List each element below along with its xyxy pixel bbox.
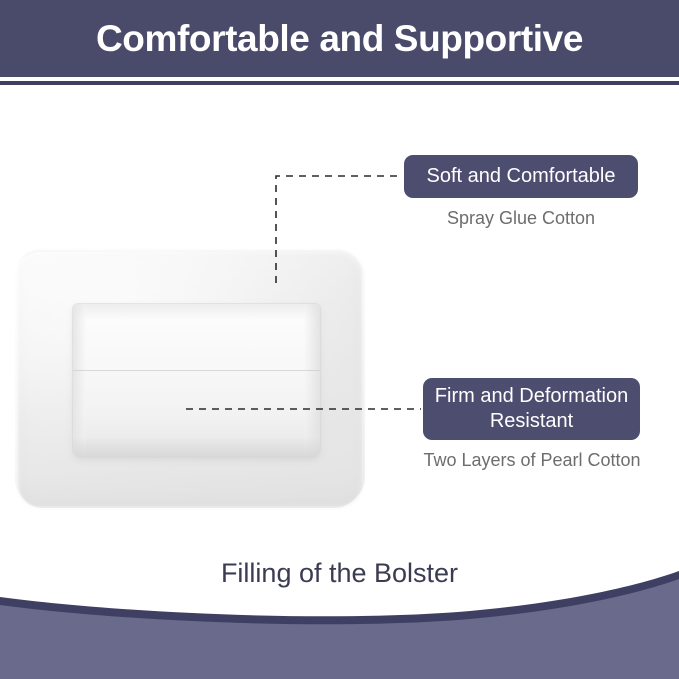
spray-glue-cotton-pad xyxy=(18,250,362,506)
insert-right-fold xyxy=(304,304,320,457)
callout-badge-label: Soft and Comfortable xyxy=(427,164,616,189)
callout-badge-soft-comfortable[interactable]: Soft and Comfortable xyxy=(404,155,638,198)
product-illustration xyxy=(10,243,370,513)
callout-caption-pearl-cotton: Two Layers of Pearl Cotton xyxy=(415,450,649,471)
callout-badge-label-line2: Resistant xyxy=(490,410,573,432)
infographic-page: Comfortable and Supportive Soft and Comf… xyxy=(0,0,679,679)
insert-left-fold xyxy=(73,304,86,457)
callout-badge-label-line1: Firm and Deformation xyxy=(435,385,628,407)
callout-badge-firm-resistant[interactable]: Firm and Deformation Resistant xyxy=(423,378,640,440)
footer-wave xyxy=(0,569,679,679)
callout-caption-spray-glue-cotton: Spray Glue Cotton xyxy=(404,208,638,229)
insert-top-shading xyxy=(73,304,320,320)
header-divider xyxy=(0,81,679,85)
insert-bottom-shading xyxy=(73,437,320,457)
callout-badge-label: Firm and Deformation Resistant xyxy=(435,384,628,434)
page-title: Comfortable and Supportive xyxy=(0,0,679,77)
insert-seam-line xyxy=(73,370,320,371)
footer-wave-light-band xyxy=(0,579,679,679)
pearl-cotton-insert xyxy=(73,304,320,457)
